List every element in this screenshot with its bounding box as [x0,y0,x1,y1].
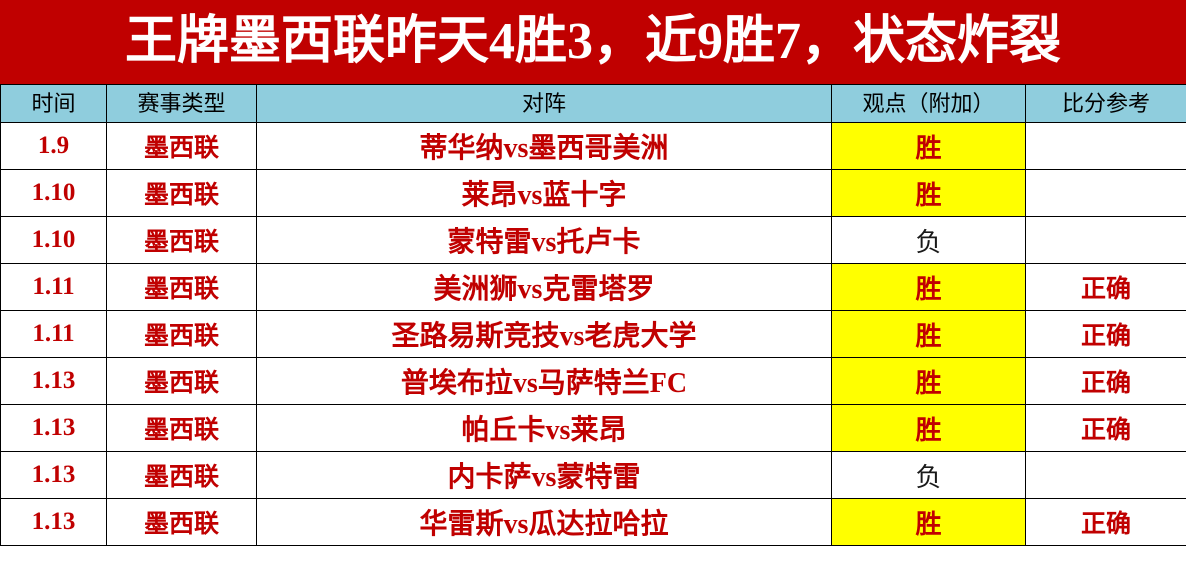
cell-opinion: 胜 [832,264,1026,311]
cell-score: 正确 [1026,311,1186,358]
cell-opinion: 胜 [832,405,1026,452]
table-body: 1.9墨西联蒂华纳vs墨西哥美洲胜1.10墨西联莱昂vs蓝十字胜1.10墨西联蒙… [1,123,1186,546]
table-row: 1.10墨西联蒙特雷vs托卢卡负 [1,217,1186,264]
cell-time: 1.9 [1,123,107,170]
cell-league: 墨西联 [107,123,257,170]
cell-match: 莱昂vs蓝十字 [257,170,832,217]
table-header-row: 时间 赛事类型 对阵 观点（附加） 比分参考 [1,85,1186,123]
cell-time: 1.13 [1,405,107,452]
cell-league: 墨西联 [107,217,257,264]
predictions-table: 时间 赛事类型 对阵 观点（附加） 比分参考 1.9墨西联蒂华纳vs墨西哥美洲胜… [0,84,1186,546]
cell-match: 普埃布拉vs马萨特兰FC [257,358,832,405]
table-row: 1.9墨西联蒂华纳vs墨西哥美洲胜 [1,123,1186,170]
cell-league: 墨西联 [107,499,257,546]
cell-opinion: 负 [832,452,1026,499]
cell-score: 正确 [1026,499,1186,546]
cell-time: 1.10 [1,217,107,264]
cell-match: 帕丘卡vs莱昂 [257,405,832,452]
column-header-type: 赛事类型 [107,85,257,123]
cell-opinion: 胜 [832,311,1026,358]
cell-opinion: 胜 [832,123,1026,170]
cell-match: 蒙特雷vs托卢卡 [257,217,832,264]
cell-match: 内卡萨vs蒙特雷 [257,452,832,499]
table-row: 1.11墨西联圣路易斯竞技vs老虎大学胜正确 [1,311,1186,358]
banner: 王牌墨西联昨天4胜3，近9胜7，状态炸裂 [0,0,1186,84]
column-header-score: 比分参考 [1026,85,1186,123]
cell-opinion: 胜 [832,499,1026,546]
prediction-sheet: 王牌墨西联昨天4胜3，近9胜7，状态炸裂 时间 赛事类型 对阵 观点（附加） 比… [0,0,1186,562]
cell-score [1026,217,1186,264]
column-header-view: 观点（附加） [832,85,1026,123]
cell-league: 墨西联 [107,170,257,217]
cell-time: 1.11 [1,264,107,311]
cell-score: 正确 [1026,264,1186,311]
cell-league: 墨西联 [107,264,257,311]
cell-match: 蒂华纳vs墨西哥美洲 [257,123,832,170]
cell-score [1026,452,1186,499]
cell-opinion: 胜 [832,170,1026,217]
column-header-match: 对阵 [257,85,832,123]
cell-league: 墨西联 [107,358,257,405]
table-row: 1.13墨西联帕丘卡vs莱昂胜正确 [1,405,1186,452]
cell-league: 墨西联 [107,452,257,499]
table-row: 1.13墨西联普埃布拉vs马萨特兰FC胜正确 [1,358,1186,405]
table-row: 1.13墨西联内卡萨vs蒙特雷负 [1,452,1186,499]
cell-match: 华雷斯vs瓜达拉哈拉 [257,499,832,546]
table-row: 1.13墨西联华雷斯vs瓜达拉哈拉胜正确 [1,499,1186,546]
cell-league: 墨西联 [107,405,257,452]
cell-score [1026,170,1186,217]
table-row: 1.11墨西联美洲狮vs克雷塔罗胜正确 [1,264,1186,311]
cell-time: 1.10 [1,170,107,217]
cell-league: 墨西联 [107,311,257,358]
cell-opinion: 负 [832,217,1026,264]
cell-time: 1.13 [1,499,107,546]
cell-opinion: 胜 [832,358,1026,405]
banner-title: 王牌墨西联昨天4胜3，近9胜7，状态炸裂 [125,14,1061,70]
column-header-time: 时间 [1,85,107,123]
cell-score: 正确 [1026,405,1186,452]
cell-score: 正确 [1026,358,1186,405]
cell-score [1026,123,1186,170]
cell-time: 1.13 [1,452,107,499]
cell-match: 美洲狮vs克雷塔罗 [257,264,832,311]
table-row: 1.10墨西联莱昂vs蓝十字胜 [1,170,1186,217]
cell-match: 圣路易斯竞技vs老虎大学 [257,311,832,358]
cell-time: 1.13 [1,358,107,405]
cell-time: 1.11 [1,311,107,358]
